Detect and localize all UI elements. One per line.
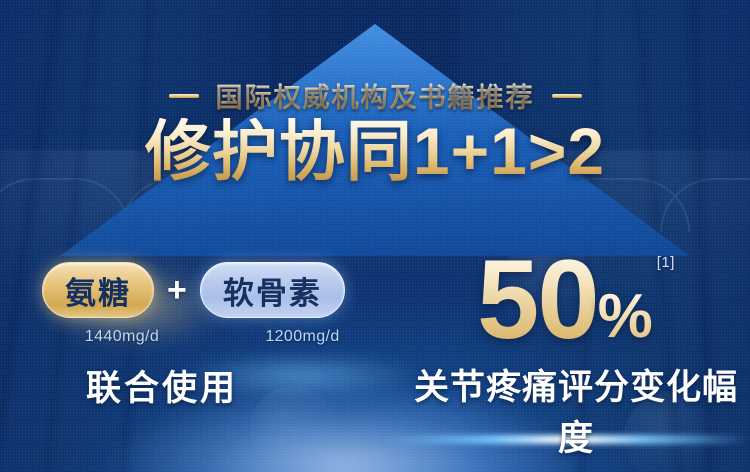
statistic-percent-sign: % [598,286,653,348]
ingredient-pill-chondroitin: 软骨素 [200,262,345,318]
page-title: 修护协同1+1>2 [0,118,750,184]
ingredient-pills: 氨糖 + 软骨素 [42,262,402,318]
caption-pain-score: 关节疼痛评分变化幅度 [402,359,750,461]
dosage-row: 1440mg/d 1200mg/d [42,328,402,346]
promo-banner: 国际权威机构及书籍推荐 修护协同1+1>2 氨糖 + 软骨素 1440mg/d … [0,0,750,472]
dash-left-icon [169,94,199,98]
ingredient-pill-glucosamine: 氨糖 [42,262,154,318]
dosage-glucosamine: 1440mg/d [42,328,202,346]
eyebrow-text: 国际权威机构及书籍推荐 [216,76,535,115]
ingredient-block: 氨糖 + 软骨素 1440mg/d 1200mg/d 联合使用 [42,262,402,411]
dash-right-icon [552,94,582,98]
statistic-number: 50 [477,248,598,352]
eyebrow-row: 国际权威机构及书籍推荐 [0,76,750,115]
plus-icon: + [167,273,187,307]
statistic-block: 50 % [1] 关节疼痛评分变化幅度 [402,248,750,461]
caption-combined-use: 联合使用 [86,360,402,411]
dosage-chondroitin: 1200mg/d [215,328,390,346]
statistic-footnote-marker: [1] [657,254,675,271]
statistic-value-row: 50 % [1] [402,248,750,353]
